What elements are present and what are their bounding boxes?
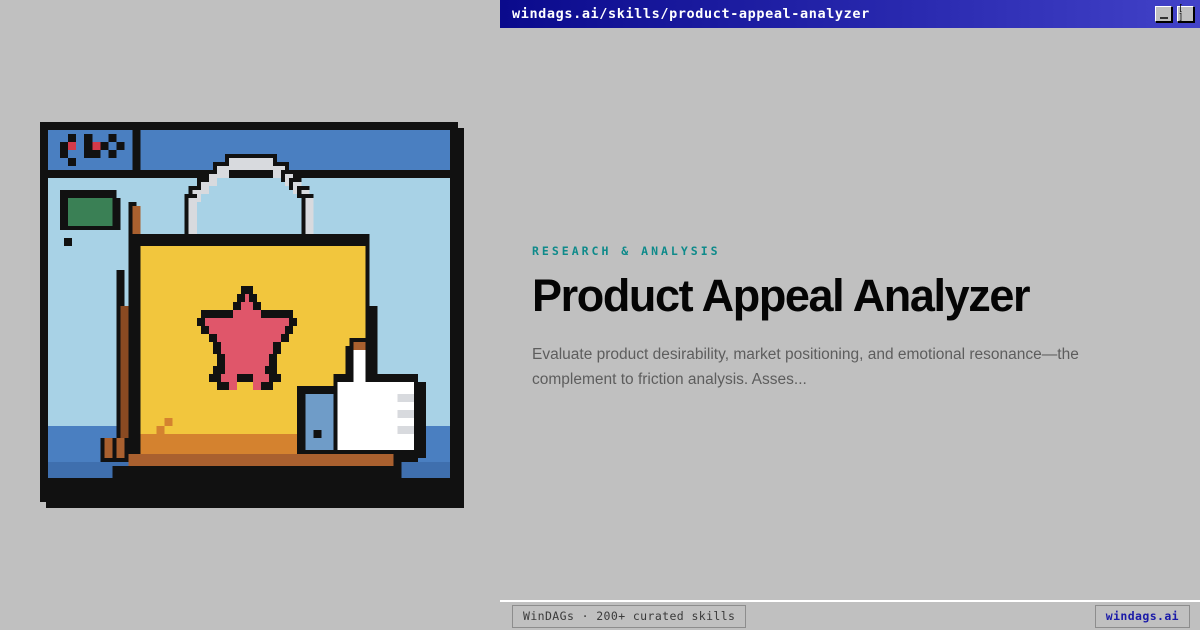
footer-skills-chip: WinDAGs · 200+ curated skills xyxy=(512,605,746,628)
url-text: windags.ai/skills/product-appeal-analyze… xyxy=(512,6,1155,22)
page-title: Product Appeal Analyzer xyxy=(532,272,1152,320)
category-eyebrow: RESEARCH & ANALYSIS xyxy=(532,244,1152,258)
shopping-bag-pixel-art-icon xyxy=(40,122,458,502)
browser-titlebar: windags.ai/skills/product-appeal-analyze… xyxy=(500,0,1200,28)
window-controls: [ ] xyxy=(1155,6,1194,22)
page-description: Evaluate product desirability, market po… xyxy=(532,342,1142,392)
footer-brand-badge[interactable]: windags.ai xyxy=(1095,605,1190,628)
hero-content: RESEARCH & ANALYSIS Product Appeal Analy… xyxy=(532,244,1152,392)
maximize-button[interactable]: [ ] xyxy=(1177,6,1194,22)
footer-bar: WinDAGs · 200+ curated skills windags.ai xyxy=(500,600,1200,630)
minimize-button[interactable] xyxy=(1155,6,1172,22)
minimize-icon xyxy=(1160,17,1168,19)
hero-illustration xyxy=(40,122,460,504)
